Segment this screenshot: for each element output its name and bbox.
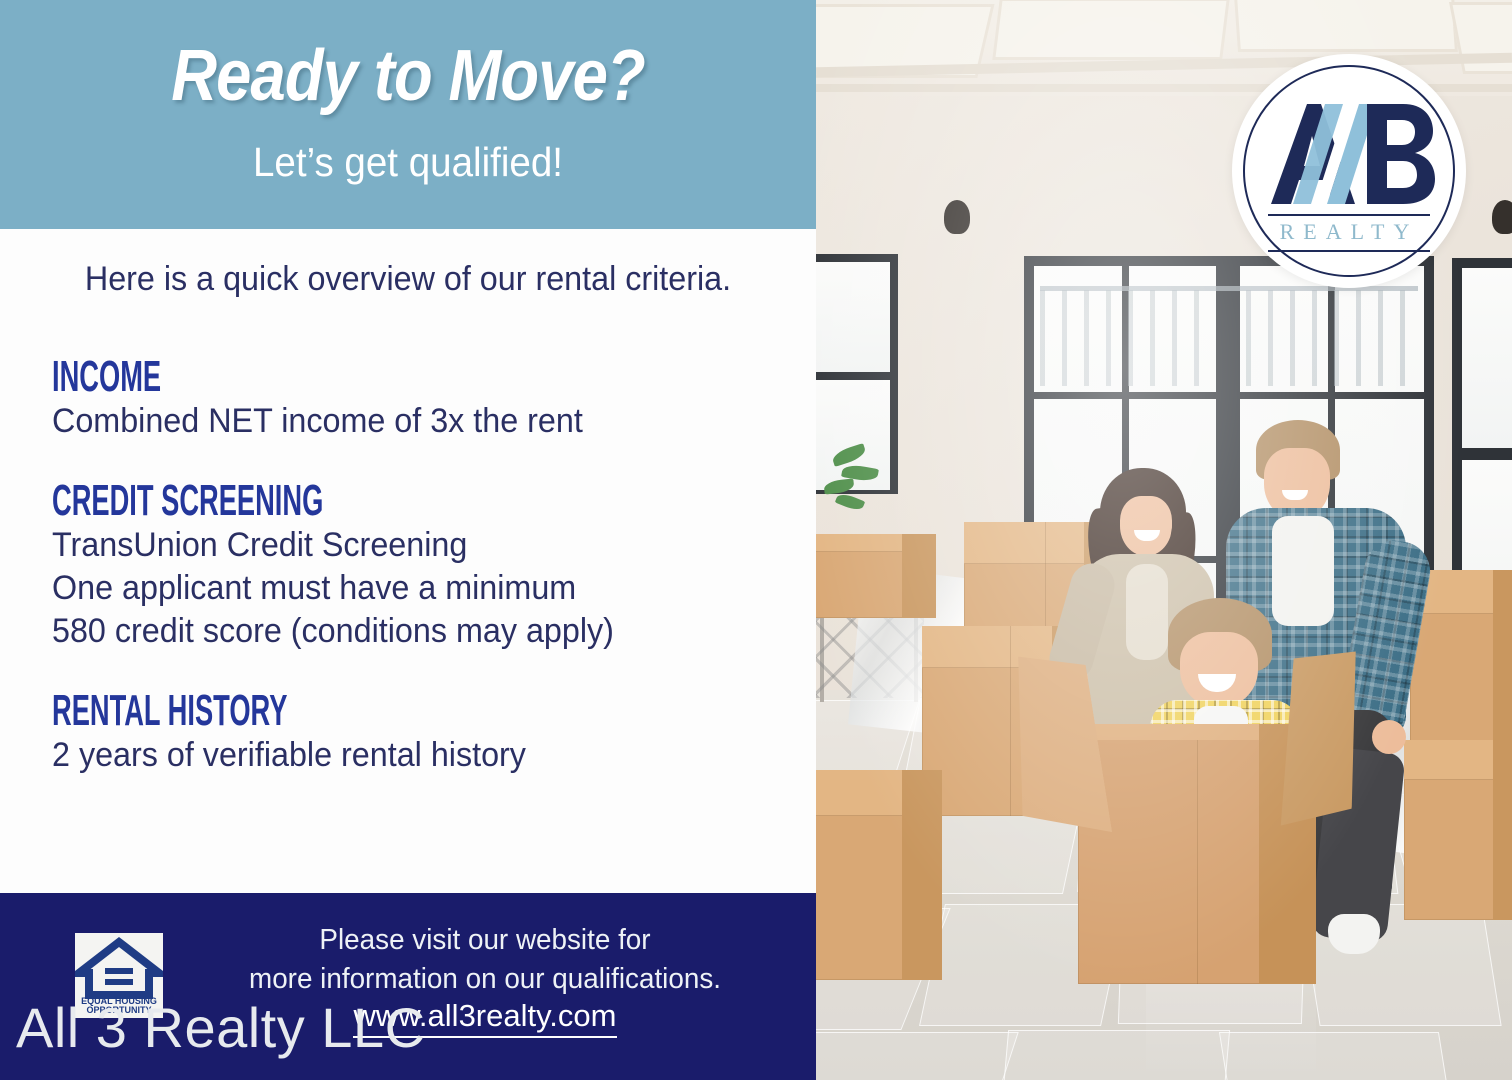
houseplant-icon xyxy=(824,440,884,520)
ceiling-panel xyxy=(1234,0,1458,52)
criterion-heading: INCOME xyxy=(52,355,505,400)
balcony-railing xyxy=(1246,290,1418,386)
criterion-income: INCOME Combined NET income of 3x the ren… xyxy=(52,355,782,443)
moving-box xyxy=(816,534,936,618)
balcony-railing xyxy=(1040,290,1210,386)
logo-rule-bottom xyxy=(1268,250,1430,252)
criterion-line: 2 years of verifiable rental history xyxy=(52,734,746,777)
wall-sconce-icon xyxy=(944,200,970,234)
criterion-line: One applicant must have a minimum xyxy=(52,567,746,610)
floor-tile xyxy=(816,1032,1019,1080)
company-logo: REALTY xyxy=(1232,54,1466,288)
footer-message-line1: Please visit our website for xyxy=(173,921,797,960)
criterion-line: Combined NET income of 3x the rent xyxy=(52,400,746,443)
moving-box-foreground xyxy=(1078,724,1316,984)
right-window-glass xyxy=(1462,268,1512,448)
logo-monogram-icon xyxy=(1232,98,1466,210)
wall-sconce-icon xyxy=(1492,200,1512,234)
criteria-list: INCOME Combined NET income of 3x the ren… xyxy=(52,355,782,813)
website-link[interactable]: www.all3realty.com xyxy=(160,998,810,1038)
logo-wordmark: REALTY xyxy=(1232,219,1466,245)
svg-text:OPPORTUNITY: OPPORTUNITY xyxy=(86,1005,151,1015)
criterion-heading: RENTAL HISTORY xyxy=(52,689,505,734)
ceiling-panel xyxy=(992,0,1230,60)
footer-band: EQUAL HOUSING OPPORTUNITY Please visit o… xyxy=(0,893,816,1080)
intro-text: Here is a quick overview of our rental c… xyxy=(20,260,795,299)
moving-box xyxy=(1404,740,1512,920)
boy-face xyxy=(1180,632,1258,708)
criterion-rental-history: RENTAL HISTORY 2 years of verifiable ren… xyxy=(52,689,782,777)
footer-message-line2: more information on our qualifications. xyxy=(173,960,797,999)
page-subtitle: Let’s get qualified! xyxy=(24,142,791,183)
page-title: Ready to Move? xyxy=(49,40,767,112)
criterion-line: TransUnion Credit Screening xyxy=(52,524,746,567)
criterion-credit-screening: CREDIT SCREENING TransUnion Credit Scree… xyxy=(52,479,782,653)
logo-rule-top xyxy=(1268,214,1430,216)
rental-criteria-flyer: Ready to Move? Let’s get qualified! Here… xyxy=(0,0,1512,1080)
left-content-panel: Ready to Move? Let’s get qualified! Here… xyxy=(0,0,816,1080)
criterion-line: 580 credit score (conditions may apply) xyxy=(52,610,746,653)
side-window-glass xyxy=(816,262,890,372)
moving-box xyxy=(816,770,942,980)
equal-housing-opportunity-icon: EQUAL HOUSING OPPORTUNITY xyxy=(75,933,163,1018)
criterion-heading: CREDIT SCREENING xyxy=(52,479,505,524)
woman-face xyxy=(1120,496,1172,556)
man-hand xyxy=(1372,720,1406,754)
website-url-text: www.all3realty.com xyxy=(353,998,616,1038)
footer-message: Please visit our website for more inform… xyxy=(173,921,797,999)
man-sock xyxy=(1328,914,1380,954)
